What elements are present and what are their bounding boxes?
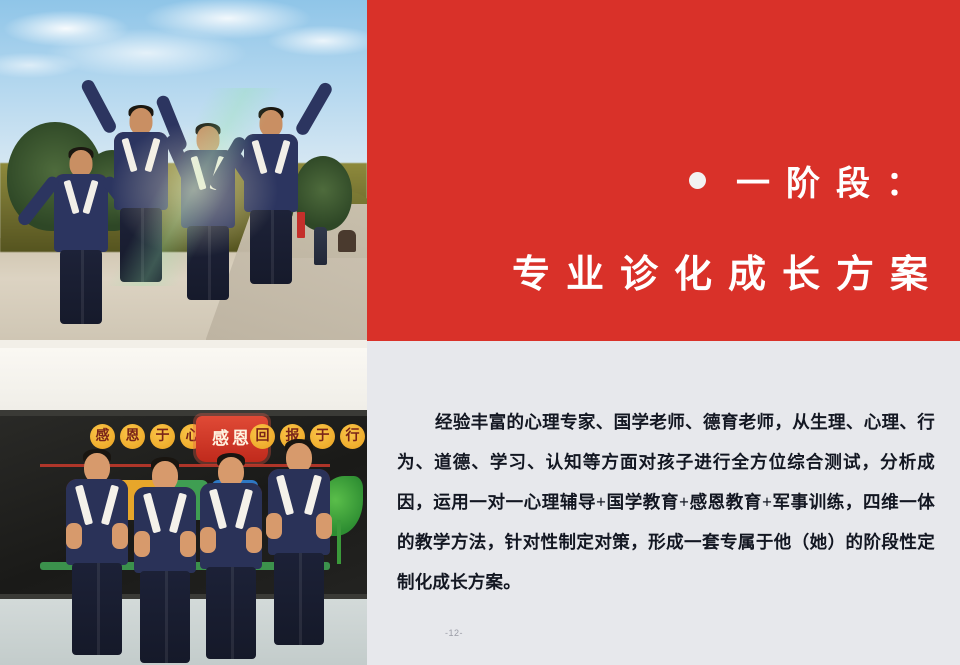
slide-root: 感 恩 于 心 感恩 回 报 于 行 (0, 0, 960, 665)
body-area: 经验丰富的心理专家、国学老师、德育老师，从生理、心理、行为、道德、学习、认知等方… (367, 341, 960, 665)
blackboard-stem (337, 520, 341, 564)
section-stage-label: 一阶段： (736, 156, 936, 205)
section-title-line2: 专业诊化成长方案 (512, 243, 944, 298)
photo-divider (0, 340, 367, 348)
photo-students-outdoors (0, 0, 367, 340)
photo-column: 感 恩 于 心 感恩 回 报 于 行 (0, 0, 367, 665)
student-figure (196, 457, 266, 665)
page-number: -12- (445, 628, 463, 638)
blackboard-char-circle: 于 (150, 424, 175, 449)
classroom-wall-top (0, 348, 367, 410)
student-figure (238, 110, 304, 340)
student-figure (130, 461, 200, 665)
student-figure (62, 453, 132, 665)
student-figure (262, 443, 336, 665)
body-paragraph: 经验丰富的心理专家、国学老师、德育老师，从生理、心理、行为、道德、学习、认知等方… (397, 402, 935, 602)
distant-person (314, 227, 327, 265)
photo-students-classroom: 感 恩 于 心 感恩 回 报 于 行 (0, 348, 367, 665)
red-header-block: 一阶段： 专业诊化成长方案 (367, 0, 960, 341)
distant-person (338, 230, 356, 252)
bullet-dot-icon (689, 172, 706, 189)
blackboard-char-circle: 行 (340, 424, 365, 449)
student-figure (108, 108, 174, 340)
blackboard-frame-top (0, 410, 367, 416)
blackboard-char-circle: 感 (90, 424, 115, 449)
section-title-line1: 一阶段： (689, 156, 936, 205)
student-figure (52, 150, 110, 340)
blackboard-char-circle: 恩 (120, 424, 145, 449)
